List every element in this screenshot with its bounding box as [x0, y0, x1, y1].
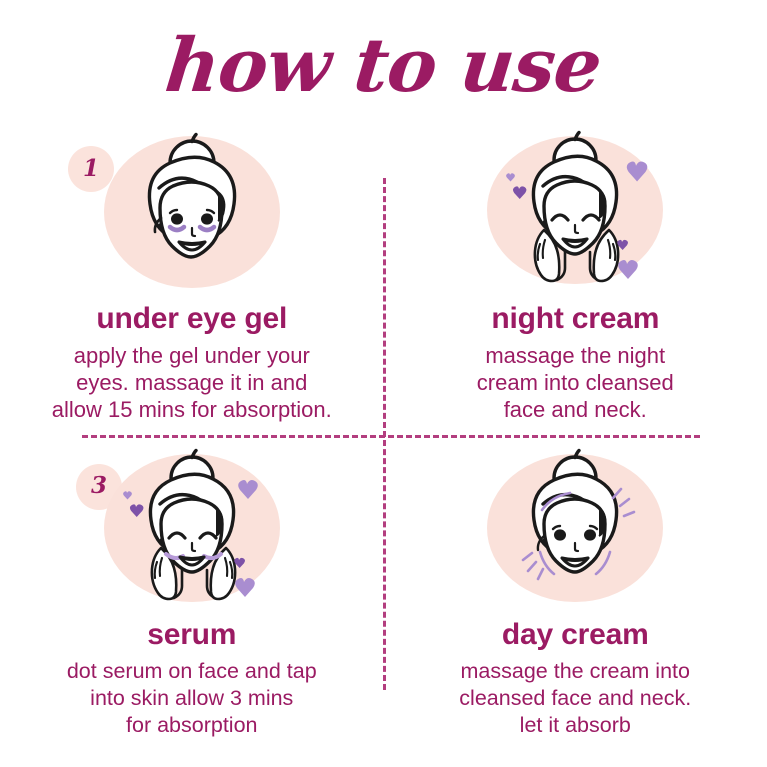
- face-hands-on-cheeks-with-hearts-icon: [470, 132, 680, 297]
- face-hands-on-cheeks-blush-with-hearts-icon: [87, 450, 297, 615]
- step-text-4: day cream massage the cream into cleanse…: [384, 618, 767, 739]
- page-title: how to use: [162, 24, 605, 108]
- step-body-4: massage the cream into cleansed face and…: [410, 658, 742, 739]
- step-body-2: massage the night cream into cleansed fa…: [410, 342, 742, 423]
- step-text-3: serum dot serum on face and tap into ski…: [0, 618, 384, 739]
- step-card-3: 3: [0, 450, 384, 767]
- step-heading-2: night cream: [410, 302, 742, 336]
- step-body-1: apply the gel under your eyes. massage i…: [26, 342, 358, 423]
- step-heading-4: day cream: [410, 618, 742, 652]
- face-with-eye-gel-patches-icon: [87, 132, 297, 297]
- step-card-2: 2: [384, 132, 767, 450]
- steps-grid: 1: [0, 132, 767, 767]
- page-title-area: how to use: [0, 24, 767, 108]
- step-card-4: 4: [384, 450, 767, 767]
- step-heading-3: serum: [26, 618, 358, 652]
- face-glowing-with-sparkle-lines-icon: [470, 450, 680, 615]
- step-heading-1: under eye gel: [26, 302, 358, 336]
- step-text-1: under eye gel apply the gel under your e…: [0, 302, 384, 423]
- step-text-2: night cream massage the night cream into…: [384, 302, 767, 423]
- how-to-use-infographic: how to use 1: [0, 0, 767, 767]
- step-card-1: 1: [0, 132, 384, 450]
- step-body-3: dot serum on face and tap into skin allo…: [26, 658, 358, 739]
